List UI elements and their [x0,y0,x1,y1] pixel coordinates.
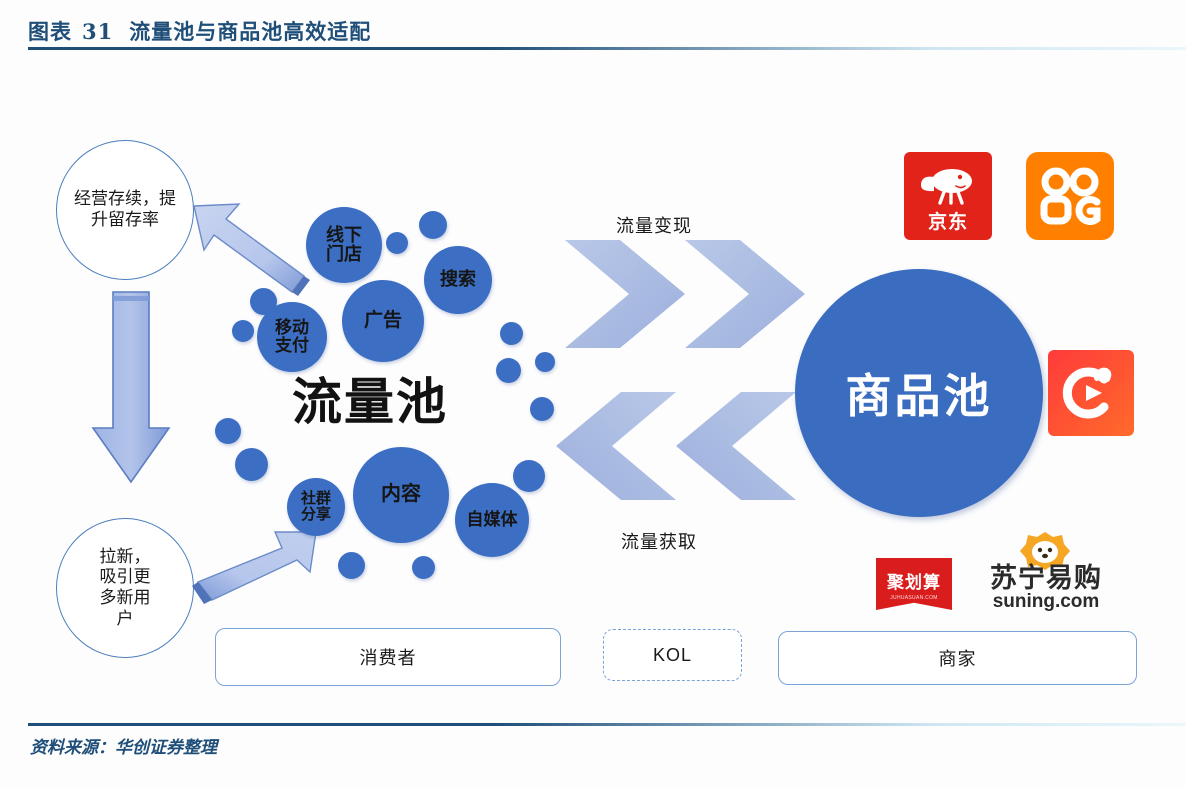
decor-bubble [496,358,521,383]
decor-bubble [412,556,435,579]
header-divider [28,47,1186,50]
bubble-content[interactable]: 内容 [353,447,449,543]
source-note: 资料来源：华创证券整理 [30,733,217,758]
decor-bubble [513,460,545,492]
figure-title-text: 流量池与商品池高效适配 [129,19,371,44]
bubble-search[interactable]: 搜索 [424,246,492,314]
juhuasuan-logo-label: 聚划算 [887,568,941,593]
monetization-flow-label: 流量变现 [616,212,692,238]
taobao-live-logo[interactable] [1048,350,1134,436]
bubble-self-media[interactable]: 自媒体 [455,483,529,557]
acquisition-flow-label: 流量获取 [621,528,697,554]
decor-bubble [338,552,365,579]
taobao-live-glyph-icon [1060,362,1122,424]
juhuasuan-logo[interactable]: 聚划算 JUHUASUAN.COM [876,558,952,610]
bubble-offline-store[interactable]: 线下 门店 [306,207,382,283]
decor-bubble [215,418,241,444]
kuaishou-glyph-icon [1037,166,1103,226]
jd-logo[interactable]: 京东 [904,152,992,240]
legend-merchant[interactable]: 商家 [778,631,1137,685]
bubble-search-label: 搜索 [440,270,476,289]
retention-callout: 经营存续，提 升留存率 [56,140,194,280]
legend-kol-label: KOL [653,645,692,666]
jd-logo-label: 京东 [928,207,968,234]
juhuasuan-logo-sub: JUHUASUAN.COM [890,595,938,601]
decor-bubble [530,397,554,421]
page-title: 图表31流量池与商品池高效适配 [28,16,371,46]
product-pool-circle[interactable]: 商品池 [795,269,1043,517]
bubble-content-label: 内容 [381,484,421,506]
figure-label: 图表 [28,19,72,44]
decor-bubble [500,322,523,345]
down-arrow-icon [86,288,176,488]
decor-bubble [232,320,254,342]
bubble-community-sharing-label: 社群 分享 [301,491,331,523]
figure-number: 31 [82,19,113,44]
bubble-advertising[interactable]: 广告 [342,280,424,362]
suning-logo-label: 苏宁易购 [990,565,1102,592]
decor-bubble [386,232,408,254]
decor-bubble [235,448,268,481]
suning-logo-sub: suning.com [993,592,1100,613]
kuaishou-logo[interactable] [1026,152,1114,240]
legend-kol[interactable]: KOL [603,629,742,681]
bubble-advertising-label: 广告 [364,311,402,332]
bubble-mobile-payment-label: 移动 支付 [275,319,309,356]
acquisition-callout-label: 拉新， 吸引更 多新用 户 [100,547,151,630]
jd-dog-icon [918,165,978,207]
bubble-offline-store-label: 线下 门店 [326,226,362,265]
acquisition-callout: 拉新， 吸引更 多新用 户 [56,518,194,658]
arrow-up-right-icon [190,520,325,615]
traffic-pool-title: 流量池 [292,362,448,434]
legend-consumer[interactable]: 消费者 [215,628,561,686]
monetization-chevrons-icon [565,238,805,350]
suning-logo[interactable]: 苏宁易购 suning.com [986,565,1106,613]
product-pool-title: 商品池 [846,360,993,426]
decor-bubble [535,352,555,372]
acquisition-chevrons-icon [556,390,796,502]
legend-merchant-label: 商家 [939,645,977,671]
bubble-community-sharing[interactable]: 社群 分享 [287,478,345,536]
decor-bubble [419,211,447,239]
legend-consumer-label: 消费者 [360,644,417,670]
retention-callout-label: 经营存续，提 升留存率 [74,189,176,230]
bubble-self-media-label: 自媒体 [467,511,518,529]
footer-divider [28,723,1186,726]
figure-page: 图表31流量池与商品池高效适配 经营存续，提 升留存率 拉新， 吸引更 多新用 … [0,0,1186,788]
